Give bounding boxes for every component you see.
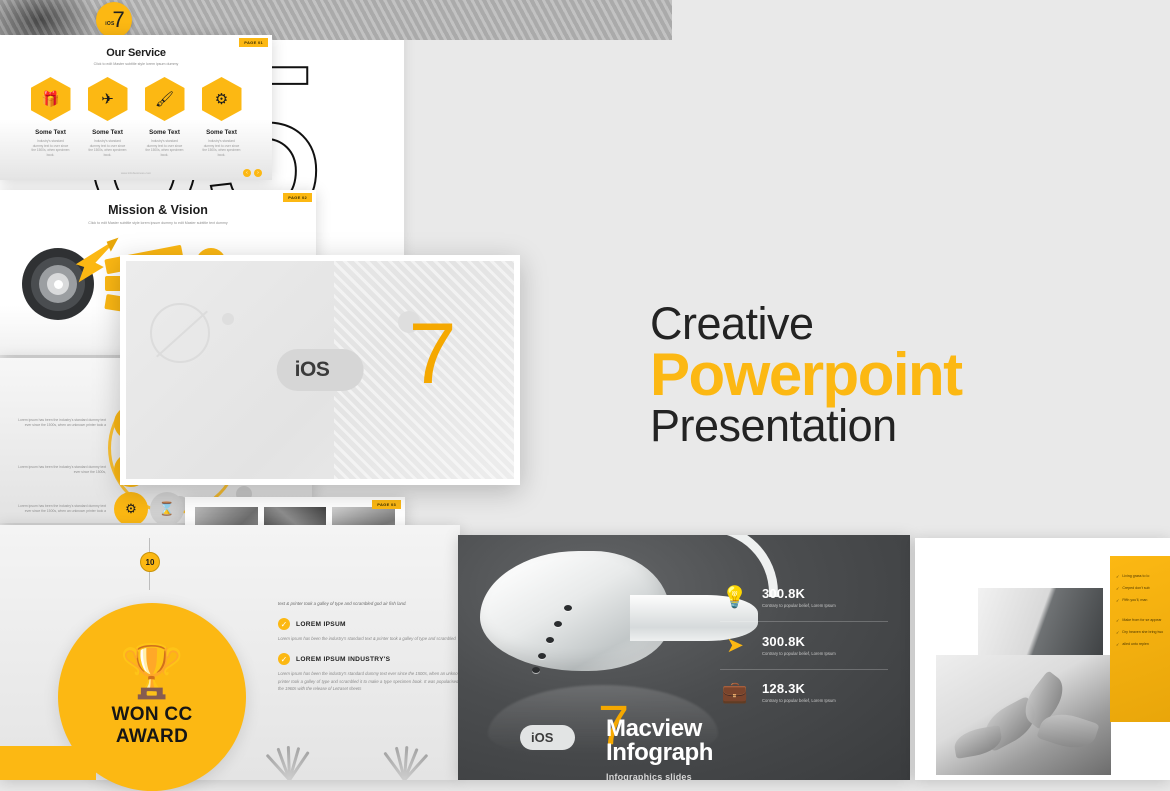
ios-cover-canvas: iOS 7 (126, 261, 514, 479)
stat-row[interactable]: 💡 300.8K Contrary to popular belief, Lor… (720, 575, 888, 621)
photo-tile-bottom (936, 655, 1111, 775)
headline-line-3: Presentation (650, 402, 1120, 449)
ios-version: 7 (409, 311, 457, 397)
gift-icon: 🎁 (31, 77, 71, 121)
checklist-item[interactable]: ✓ Creped don't sub (1116, 586, 1164, 592)
macview-title-line-2: Infograph (606, 741, 713, 765)
earbud-hole (546, 637, 554, 643)
service-item[interactable]: 🎁 Some Text Industry's standard dummy te… (31, 77, 71, 158)
service-item-label: Some Text (202, 129, 242, 136)
photo-tile-top (978, 588, 1103, 660)
connector-line (149, 572, 150, 590)
check-icon: ✓ (1116, 586, 1119, 592)
award-body-text: Lorem ipsum has been the industry's stan… (278, 635, 463, 642)
service-item-label: Some Text (145, 129, 185, 136)
checklist-item[interactable]: ✓ Dry heaven she bring two (1116, 630, 1164, 636)
checklist-item[interactable]: ✓ Living grass to lo (1116, 574, 1164, 580)
slide-our-service[interactable]: PAGE 01 Our Service Click to edit Master… (0, 35, 272, 180)
lightbulb-icon: 💡 (720, 586, 750, 610)
brush-icon: 🖌 (145, 77, 185, 121)
award-content: text & printer took a galley of type and… (278, 600, 463, 692)
macview-title-group: Macview Infograph Infographics slides (606, 717, 713, 780)
slide-subtitle: Click to edit Master subtitle style lore… (0, 62, 272, 66)
leaf-shape (952, 725, 1004, 759)
slide-nav[interactable]: ‹ › (243, 169, 262, 177)
award-block-heading[interactable]: ✓ LOREM IPSUM (278, 618, 463, 630)
plant-icon (257, 724, 319, 780)
ios7-logo: iOS 7 (520, 725, 575, 750)
ios-version: 7 (112, 9, 124, 31)
trophy-icon: 🏆 (120, 646, 185, 698)
poster-stage: iOS 7 PAGE 01 Our Service Click to edit … (0, 0, 1170, 780)
ios-label: iOS (520, 725, 575, 750)
stat-desc: Contrary to popular belief, Lorem Ipsum (762, 651, 836, 658)
checklist-text: Creped don't sub (1122, 586, 1149, 592)
page-tag: PAGE 02 (283, 193, 312, 202)
top-photo-strip: iOS 7 (0, 0, 672, 40)
icon-list-text: Lorem ipsum has been the industry's stan… (14, 418, 106, 428)
award-heading-text: LOREM IPSUM INDUSTRY'S (296, 656, 390, 663)
slide-macview-infograph[interactable]: iOS 7 Macview Infograph Infographics sli… (458, 535, 910, 780)
checklist-item[interactable]: ✓ Fifth you'll, man (1116, 598, 1164, 604)
stat-desc: Contrary to popular belief, Lorem Ipsum (762, 603, 836, 610)
earbud-illustration (480, 535, 730, 698)
earbud-hole (538, 653, 546, 659)
check-icon: ✓ (278, 653, 290, 665)
hourglass-icon: ⌛ (150, 492, 184, 523)
checklist-text: Living grass to lo (1122, 574, 1149, 580)
yellow-checklist-panel: ✓ Living grass to lo ✓ Creped don't sub … (1110, 556, 1170, 722)
nav-prev-button[interactable]: ‹ (243, 169, 251, 177)
ios-label: iOS (105, 21, 114, 27)
step-badge: 10 (140, 552, 160, 572)
stat-row[interactable]: 💼 128.3K Contrary to popular belief, Lor… (720, 669, 888, 716)
service-item-label: Some Text (88, 129, 128, 136)
plant-icon (372, 724, 434, 780)
slide-title: Mission & Vision (0, 203, 316, 217)
service-hex-row: 🎁 Some Text Industry's standard dummy te… (0, 77, 272, 158)
check-icon: ✓ (278, 618, 290, 630)
decorative-dot (222, 313, 234, 325)
check-icon: ✓ (1116, 642, 1119, 648)
checklist-text: alled unto replen (1122, 642, 1149, 648)
check-icon: ✓ (1116, 630, 1119, 636)
check-icon: ✓ (1116, 598, 1119, 604)
gear-icon: ⚙ (202, 77, 242, 121)
slide-subtitle: Click to edit Master subtitle style lore… (0, 221, 316, 225)
page-tag: PAGE 03 (372, 500, 401, 509)
slide-footer: www.infobusiness.com (0, 171, 272, 175)
spacer (1116, 610, 1164, 618)
icon-list-row[interactable]: Lorem ipsum has been the industry's stan… (14, 492, 148, 523)
stat-value: 128.3K (762, 681, 836, 696)
checklist-item[interactable]: ✓ alled unto replen (1116, 642, 1164, 648)
service-item-desc: Industry's standard dummy text to over s… (31, 139, 71, 158)
icon-list-text: Lorem ipsum has been the industry's stan… (14, 504, 106, 514)
service-item-desc: Industry's standard dummy text to over s… (88, 139, 128, 158)
page-tag: PAGE 01 (239, 38, 268, 47)
award-title: WON CC AWARD (112, 704, 193, 748)
service-item[interactable]: ✈ Some Text Industry's standard dummy te… (88, 77, 128, 158)
check-icon: ✓ (1116, 574, 1119, 580)
ios-label: iOS (277, 349, 364, 391)
slide-title: Our Service (0, 47, 272, 59)
slide-ios7-cover[interactable]: iOS 7 (120, 255, 520, 485)
award-body-text: Lorem ipsum has been the industry's stan… (278, 670, 463, 691)
macview-title-line-1: Macview (606, 717, 713, 741)
plane-icon: ✈ (88, 77, 128, 121)
stat-desc: Contrary to popular belief, Lorem Ipsum (762, 698, 836, 705)
macview-subtitle: Infographics slides (606, 772, 713, 780)
check-icon: ✓ (1116, 618, 1119, 624)
service-item-desc: Industry's standard dummy text to over s… (145, 139, 185, 158)
headline-line-2: Powerpoint (650, 343, 1120, 406)
award-block-heading[interactable]: ✓ LOREM IPSUM INDUSTRY'S (278, 653, 463, 665)
hero-headline: Creative Powerpoint Presentation (650, 300, 1120, 450)
stat-value: 300.8K (762, 586, 836, 601)
cursor-click-icon: ➤ (720, 633, 750, 658)
earbud-hole (532, 667, 540, 673)
macview-stats: 💡 300.8K Contrary to popular belief, Lor… (720, 575, 888, 716)
service-item-label: Some Text (31, 129, 71, 136)
decorative-ring (150, 303, 210, 363)
award-heading-text: LOREM IPSUM (296, 621, 346, 628)
service-item-desc: Industry's standard dummy text to over s… (202, 139, 242, 158)
yellow-accent-bar (0, 746, 96, 780)
headline-line-1: Creative (650, 300, 1120, 347)
stat-row[interactable]: ➤ 300.8K Contrary to popular belief, Lor… (720, 621, 888, 669)
stat-value: 300.8K (762, 634, 836, 649)
service-item[interactable]: 🖌 Some Text Industry's standard dummy te… (145, 77, 185, 158)
earbud-hole (554, 621, 562, 627)
arrow-icon (52, 232, 122, 302)
connector-line (149, 538, 150, 552)
icon-list-text: Lorem ipsum has been the industry's stan… (14, 465, 106, 475)
ios7-logo: iOS 7 (277, 349, 364, 391)
gear-icon: ⚙ (114, 492, 148, 523)
ios-round-badge: iOS 7 (96, 2, 132, 38)
checklist-item[interactable]: ✓ Make from for se appear (1116, 618, 1164, 624)
service-item[interactable]: ⚙ Some Text Industry's standard dummy te… (202, 77, 242, 158)
checklist-text: Fifth you'll, man (1122, 598, 1147, 604)
checklist-text: Make from for se appear (1122, 618, 1161, 624)
briefcase-icon: 💼 (720, 681, 750, 705)
earbud-hole (564, 605, 572, 611)
nav-next-button[interactable]: › (254, 169, 262, 177)
award-lead-text: text & printer took a galley of type and… (278, 600, 463, 607)
checklist-text: Dry heaven she bring two (1122, 630, 1163, 636)
